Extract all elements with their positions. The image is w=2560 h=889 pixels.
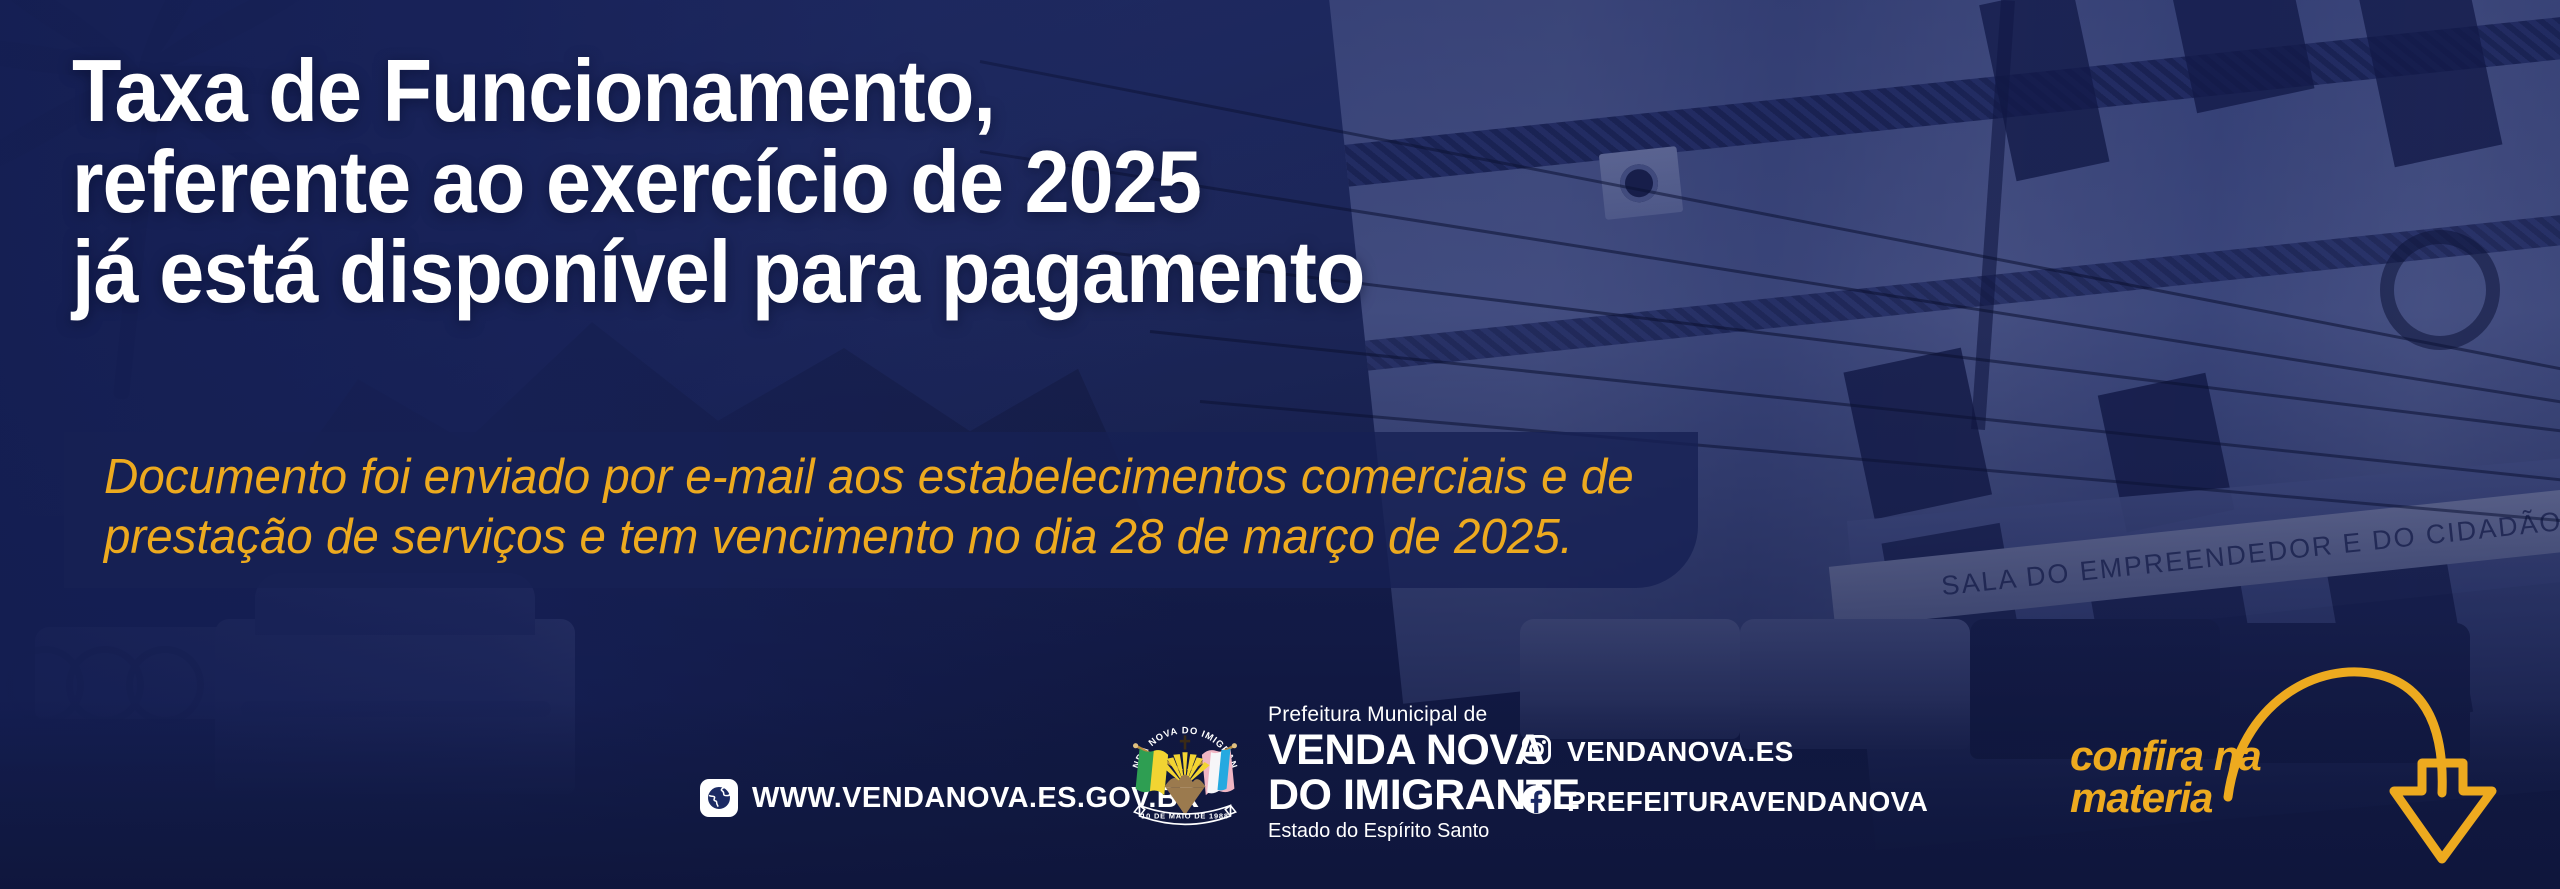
- svg-text:10 DE MAIO DE 1988: 10 DE MAIO DE 1988: [1141, 811, 1229, 820]
- brand-state: Estado do Espírito Santo: [1268, 821, 1580, 841]
- subtitle-panel: Documento foi enviado por e-mail aos est…: [64, 432, 1698, 588]
- instagram-handle: VENDANOVA.ES: [1567, 736, 1794, 768]
- instagram-icon: [1520, 733, 1553, 771]
- facebook-handle: PREFEITURAVENDANOVA: [1567, 786, 1928, 818]
- headline-line-3: já está disponível para pagamento: [72, 227, 1364, 318]
- subtitle-line-1: Documento foi enviado por e-mail aos est…: [104, 448, 1608, 508]
- headline-line-2: referente ao exercício de 2025: [72, 137, 1364, 228]
- headline: Taxa de Funcionamento, referente ao exer…: [72, 46, 1364, 318]
- instagram-link[interactable]: VENDANOVA.ES: [1520, 733, 1928, 771]
- subtitle-line-2: prestação de serviços e tem vencimento n…: [104, 508, 1608, 568]
- globe-icon: [700, 779, 738, 817]
- brand-prefix: Prefeitura Municipal de: [1268, 704, 1580, 725]
- call-to-action[interactable]: confira na materia: [2070, 651, 2520, 871]
- facebook-link[interactable]: PREFEITURAVENDANOVA: [1520, 783, 1928, 821]
- curved-down-arrow-icon: [2220, 651, 2520, 871]
- brand-lockup: VENDA NOVA DO IMIGRANTE: [1120, 704, 1580, 841]
- coat-of-arms-icon: VENDA NOVA DO IMIGRANTE: [1120, 708, 1250, 838]
- footer: WWW.VENDANOVA.ES.GOV.BR VENDA NOVA DO IM…: [0, 689, 2560, 889]
- social-links: VENDANOVA.ES PREFEITURAVENDANOVA: [1520, 733, 1928, 821]
- headline-line-1: Taxa de Funcionamento,: [72, 46, 1364, 137]
- promotional-banner: SALA DO EMPREENDEDOR E DO CIDADÃO Taxa d…: [0, 0, 2560, 889]
- facebook-icon: [1520, 783, 1553, 821]
